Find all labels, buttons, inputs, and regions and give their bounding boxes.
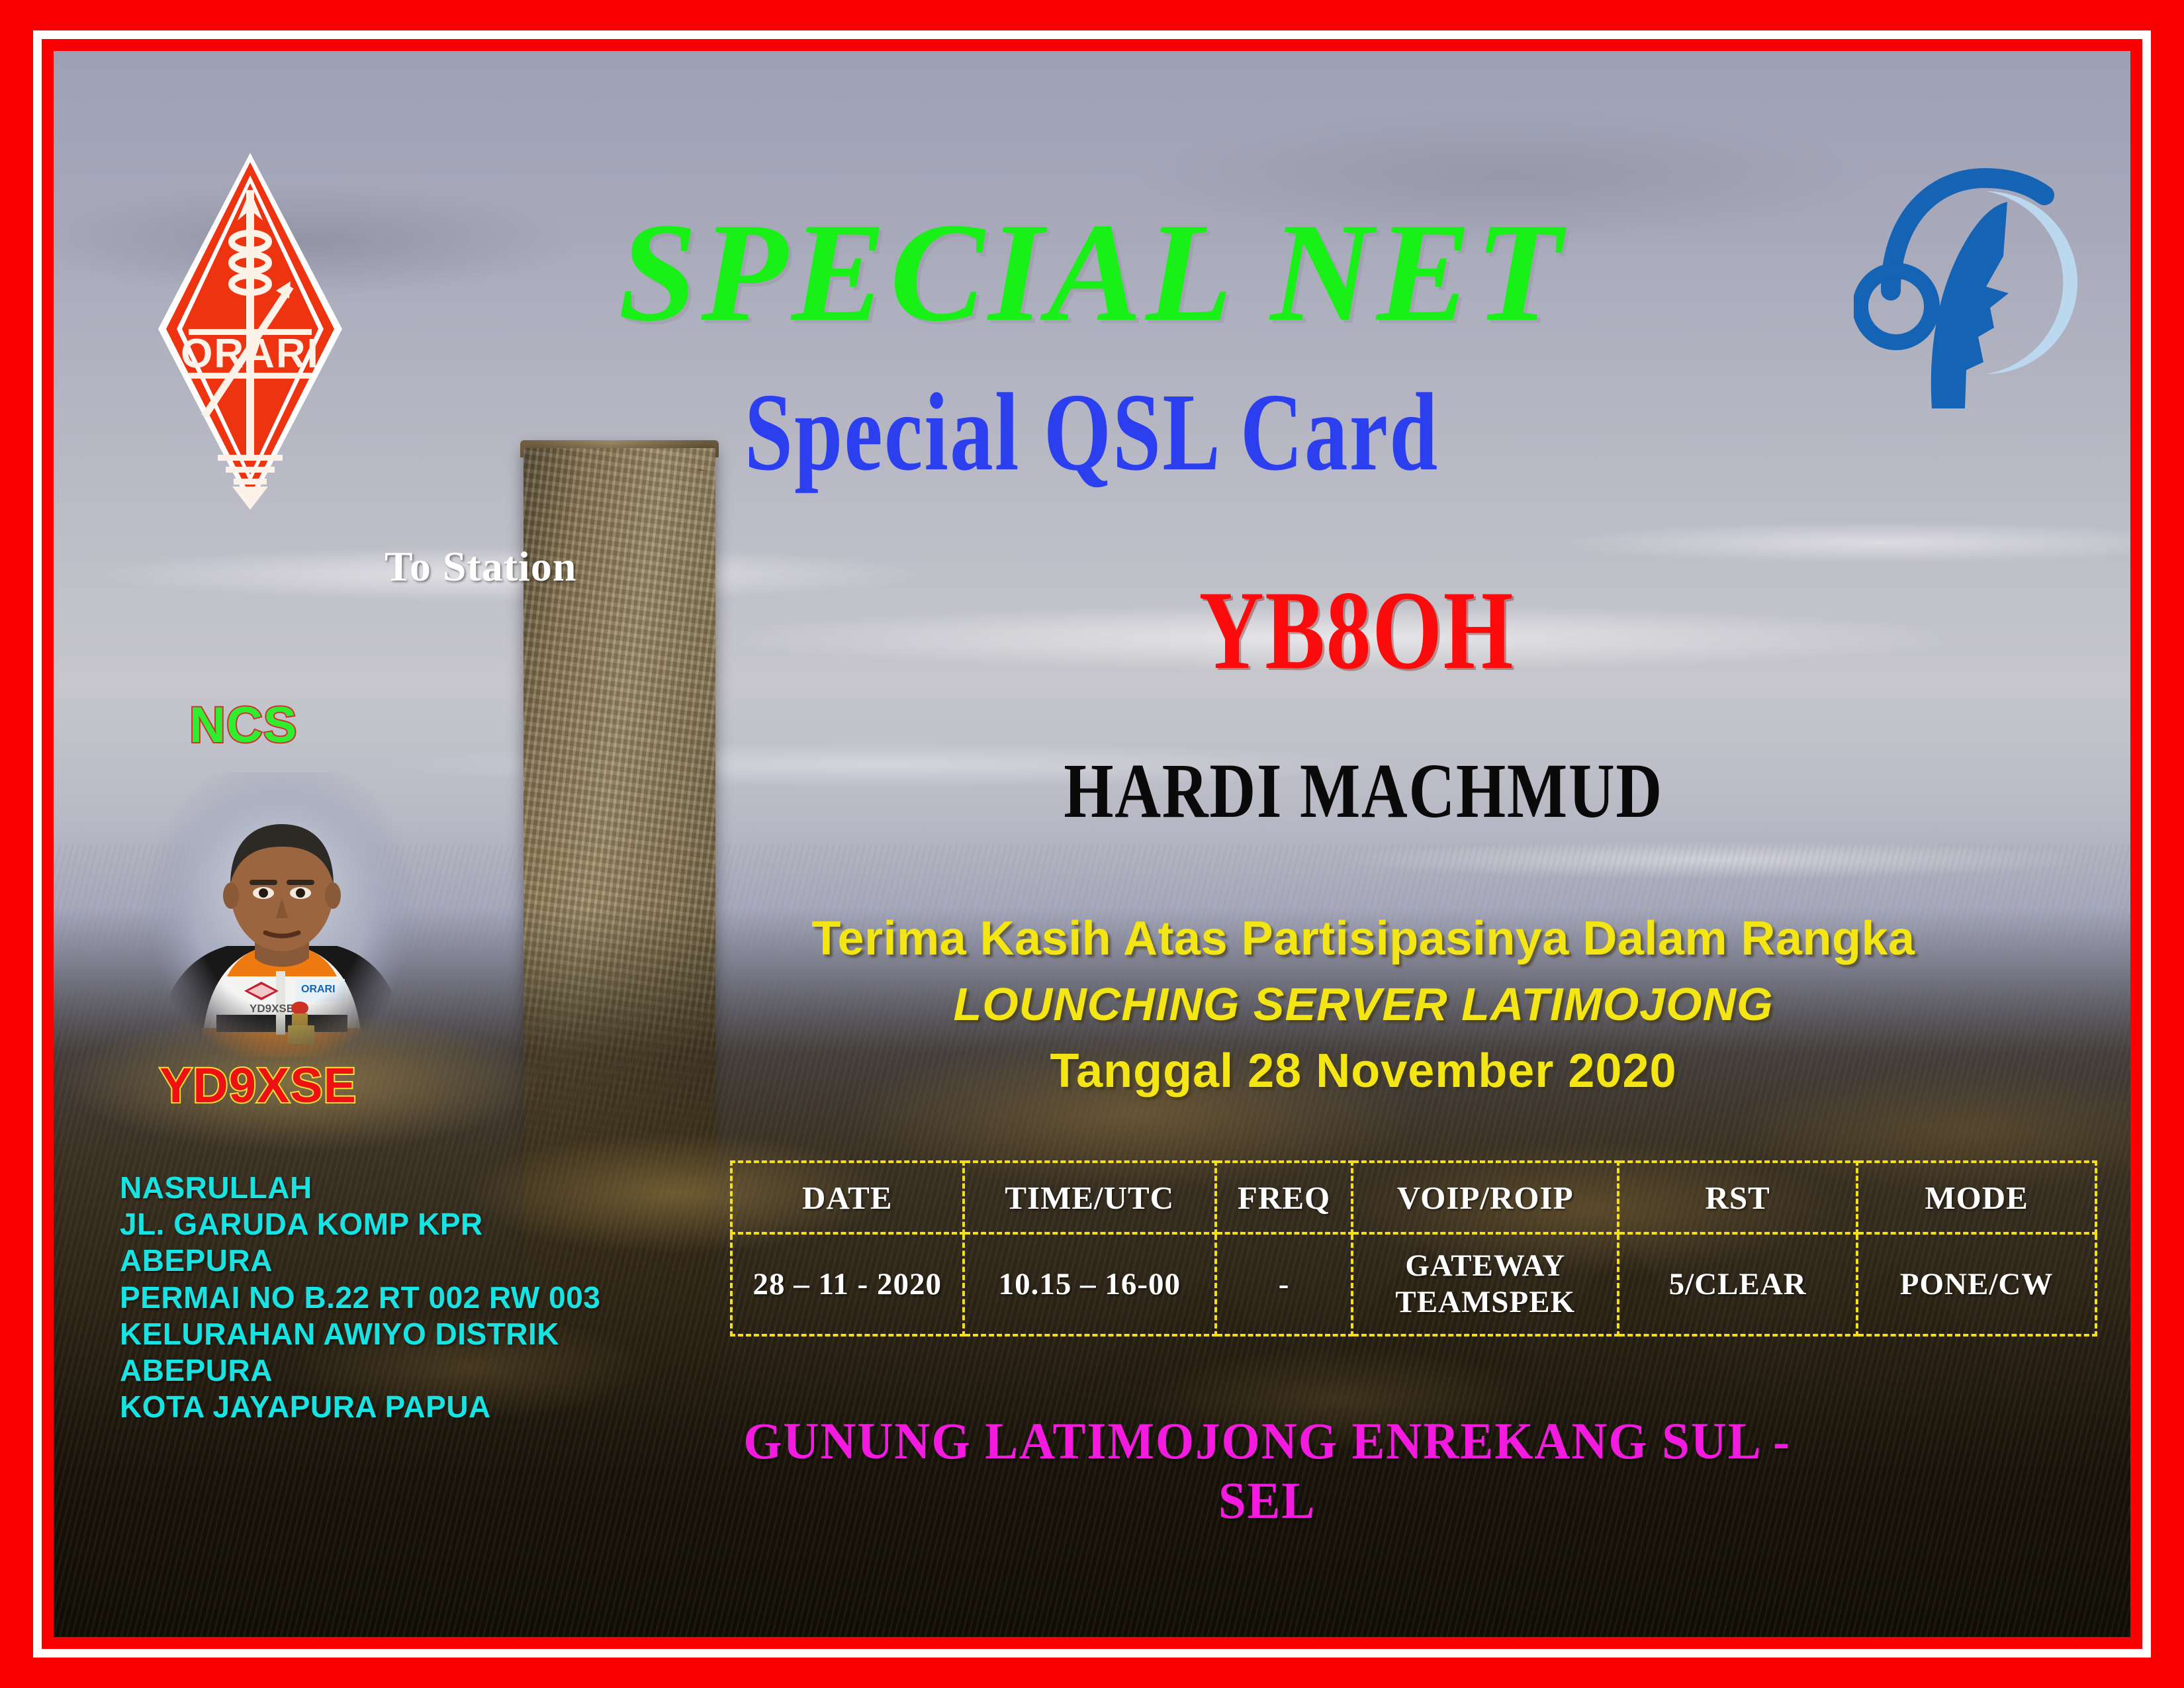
svg-text:YD9XSE: YD9XSE xyxy=(250,1002,294,1015)
table-header-row: DATE TIME/UTC FREQ VOIP/ROIP RST MODE xyxy=(731,1162,2096,1233)
footer-web-address: Address : amatir.latimojong.com xyxy=(1331,1630,1997,1637)
heading-special-qsl-card-text: Special QSL Card xyxy=(745,377,1439,488)
operator-name-text: HARDI MACHMUD xyxy=(1064,746,1662,836)
cell-voip-roip-line2: TEAMSPEK xyxy=(1353,1284,1617,1321)
operator-portrait-photo: YD9XSE ORARI xyxy=(138,773,423,1057)
address-line: KOTA JAYAPURA PAPUA xyxy=(120,1389,715,1425)
card-photo-background: ORARI NCS xyxy=(54,51,2130,1637)
address-line: ABEPURA xyxy=(120,1243,715,1279)
address-line: PERMAI NO B.22 RT 002 RW 003 xyxy=(120,1280,715,1316)
cell-date: 28 – 11 - 2020 xyxy=(731,1233,964,1335)
cell-mode: PONE/CW xyxy=(1857,1233,2096,1335)
qso-data-table: DATE TIME/UTC FREQ VOIP/ROIP RST MODE 28… xyxy=(730,1160,2097,1336)
sender-address-block: NASRULLAH JL. GARUDA KOMP KPR ABEPURA PE… xyxy=(120,1170,715,1425)
cell-freq: - xyxy=(1216,1233,1352,1335)
table-row: 28 – 11 - 2020 10.15 – 16-00 - GATEWAY T… xyxy=(731,1233,2096,1335)
station-callsign-text: YB8OH xyxy=(1199,574,1515,686)
thanks-line-1: Terima Kasih Atas Partisipasinya Dalam R… xyxy=(749,912,1978,966)
table-header-freq: FREQ xyxy=(1216,1162,1352,1233)
operator-name: HARDI MACHMUD xyxy=(835,746,1892,836)
station-callsign: YB8OH xyxy=(835,574,1879,686)
address-line: JL. GARUDA KOMP KPR xyxy=(120,1206,715,1243)
qsl-card: ORARI NCS xyxy=(0,0,2184,1688)
heading-special-qsl-card: Special QSL Card xyxy=(54,377,2130,488)
thanks-line-3: Tanggal 28 November 2020 xyxy=(749,1044,1978,1098)
table-header-voip-roip: VOIP/ROIP xyxy=(1352,1162,1618,1233)
address-line: KELURAHAN AWIYO DISTRIK xyxy=(120,1316,715,1352)
address-line: ABEPURA xyxy=(120,1352,715,1389)
table-header-mode: MODE xyxy=(1857,1162,2096,1233)
heading-special-net-text: SPECIAL NET xyxy=(618,194,1566,351)
cell-voip-roip: GATEWAY TEAMSPEK xyxy=(1352,1233,1618,1335)
thanks-line-2: LOUNCHING SERVER LATIMOJONG xyxy=(749,978,1978,1031)
svg-text:ORARI: ORARI xyxy=(301,984,336,995)
cell-rst: 5/CLEAR xyxy=(1618,1233,1857,1335)
cell-voip-roip-line1: GATEWAY xyxy=(1353,1248,1617,1284)
address-line: NASRULLAH xyxy=(120,1170,715,1206)
cell-time-utc: 10.15 – 16-00 xyxy=(964,1233,1216,1335)
table-header-date: DATE xyxy=(731,1162,964,1233)
ncs-label: NCS xyxy=(189,696,297,754)
to-station-label: To Station xyxy=(385,542,576,591)
table-header-rst: RST xyxy=(1618,1162,1857,1233)
heading-special-net: SPECIAL NET xyxy=(54,202,2130,344)
table-header-time-utc: TIME/UTC xyxy=(964,1162,1216,1233)
ncs-callsign: YD9XSE xyxy=(159,1057,357,1113)
location-line: GUNUNG LATIMOJONG ENREKANG SUL - SEL xyxy=(689,1411,1845,1530)
footer-slogan: "AMATIR RADIO ADALAH PROGRESIVE" xyxy=(132,1630,1064,1637)
